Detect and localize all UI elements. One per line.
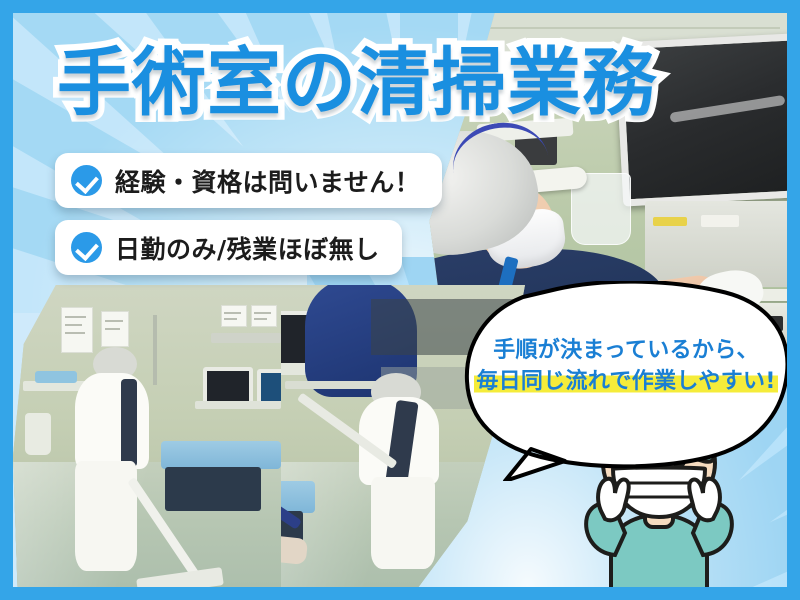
hand-icon	[689, 479, 720, 521]
feature-pill-experience: 経験・資格は問いません！	[55, 153, 442, 208]
recruitment-banner: 手術室の清掃業務 経験・資格は問いません！ 日勤のみ/残業ほぼ無し 手順が決まっ…	[0, 0, 800, 600]
feature-pill-dayshift: 日勤のみ/残業ほぼ無し	[55, 220, 402, 275]
banner-inner-area: 手術室の清掃業務 経験・資格は問いません！ 日勤のみ/残業ほぼ無し 手順が決まっ…	[13, 13, 787, 587]
speech-bubble-line2: 毎日同じ流れで作業しやすい!	[474, 369, 777, 394]
wall-notice	[221, 305, 247, 327]
check-circle-icon	[71, 232, 102, 263]
page-title: 手術室の清掃業務	[57, 46, 657, 121]
wall-notice	[101, 311, 129, 347]
wall-notice	[61, 307, 93, 353]
feature-label: 経験・資格は問いません！	[115, 163, 420, 199]
check-circle-icon	[71, 165, 102, 196]
feature-label: 日勤のみ/残業ほぼ無し	[115, 230, 380, 266]
speech-bubble-line1: 手順が決まっているから、	[461, 335, 787, 366]
wall-notice	[251, 305, 277, 327]
hand-icon	[598, 479, 629, 521]
speech-bubble-text: 手順が決まっているから、 毎日同じ流れで作業しやすい!	[461, 335, 787, 397]
cleaner-mopping-left-photo	[13, 285, 281, 587]
speech-bubble: 手順が決まっているから、 毎日同じ流れで作業しやすい!	[461, 281, 787, 481]
